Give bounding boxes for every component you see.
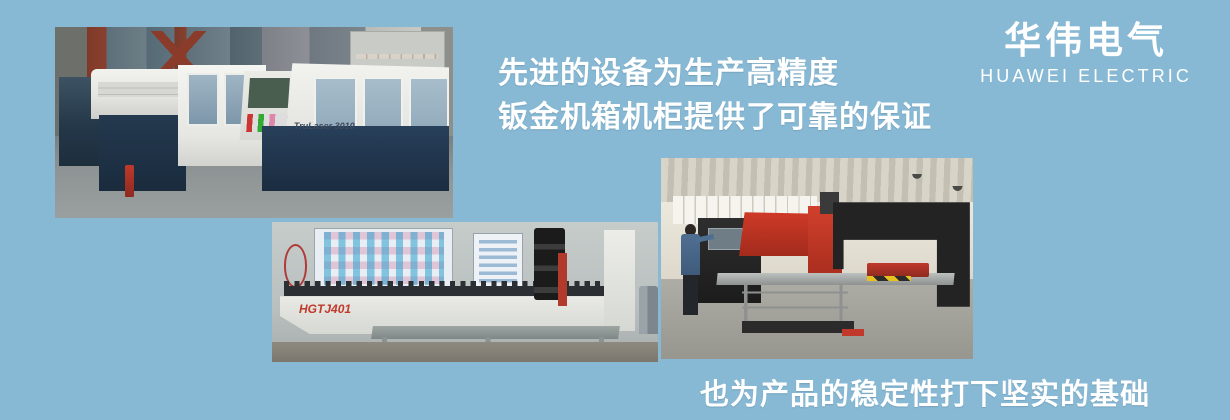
- gas-cylinders: [639, 286, 658, 334]
- workshop-floor: [272, 342, 658, 362]
- wall-chart-large: [314, 228, 453, 290]
- logo-english-name: HUAWEI ELECTRIC: [980, 64, 1192, 88]
- headline-text: 先进的设备为生产高精度 钣金机箱机柜提供了可靠的保证: [498, 52, 932, 140]
- company-logo: 华伟电气 HUAWEI ELECTRIC: [980, 20, 1192, 88]
- right-column: [604, 230, 635, 331]
- company-equipment-banner: TruLaser 3010 HGTJ401: [0, 0, 1230, 420]
- red-cable-bundle: [558, 253, 567, 306]
- ceiling-lamp-2: [951, 186, 963, 196]
- photo-turret-punch-machine: [661, 158, 973, 359]
- trulaser-scene: [55, 27, 453, 218]
- ceiling-lamp-1: [911, 174, 923, 184]
- logo-chinese-name: 华伟电气: [980, 20, 1192, 62]
- cart-wheels: [742, 321, 854, 333]
- tagline-text: 也为产品的稳定性打下坚实的基础: [700, 371, 1150, 413]
- hazard-stripe: [867, 276, 911, 281]
- material-cart: [742, 285, 848, 321]
- photo-hgtj-machine: HGTJ401: [272, 222, 658, 362]
- headline-line-2: 钣金机箱机柜提供了可靠的保证: [498, 96, 932, 140]
- headline-line-1: 先进的设备为生产高精度: [498, 52, 932, 96]
- fire-extinguisher: [125, 165, 135, 197]
- red-tool-unit: [867, 263, 929, 277]
- worker-legs: [683, 275, 699, 315]
- photo-trulaser-machine: TruLaser 3010: [55, 27, 453, 218]
- machine-base-left: [99, 115, 187, 191]
- floor-toolbox: [842, 329, 864, 336]
- punch-scene: [661, 158, 973, 359]
- hgtj-scene: [272, 222, 658, 362]
- machine-base-right: [262, 126, 449, 191]
